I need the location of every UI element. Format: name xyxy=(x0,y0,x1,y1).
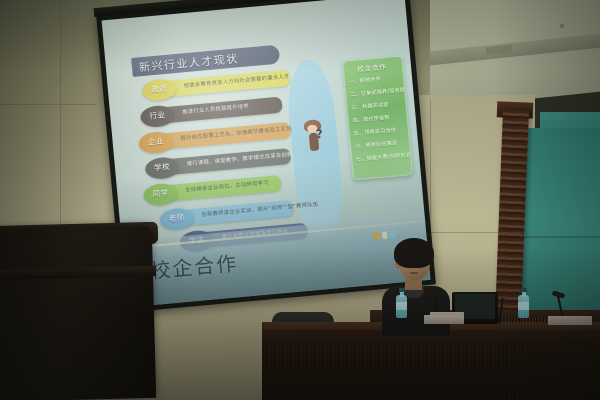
desk-front-panel xyxy=(262,340,600,400)
photo-scene: 新兴行业人才现状 ? 政府把更多教育资源人力向社会需要的重点人才行业推进行业人员… xyxy=(0,0,600,400)
slide-row: 企业提升岗位配置工艺化，加强细节建设及工艺化 xyxy=(138,134,140,155)
slide-row: 同学主动接受企业岗位，主动转岗学习 xyxy=(143,185,145,206)
slide-row: 行业推进行业人员技能提升培养 xyxy=(140,107,142,128)
slide-row: 政府把更多教育资源人力向社会需要的重点人才 xyxy=(141,81,143,102)
question-mark-icon: ? xyxy=(315,127,323,142)
bottle-label xyxy=(396,302,407,310)
slide-row: 学校推行课程、课堂教学、教学模式改革及创新 xyxy=(144,159,146,180)
wall-seam xyxy=(0,104,96,105)
speaker-mouth xyxy=(410,272,418,274)
footer-dot xyxy=(374,232,380,239)
ceiling-fixture xyxy=(560,24,564,28)
water-bottle xyxy=(396,288,407,318)
wall-teal-seam xyxy=(520,236,600,238)
wall-seam xyxy=(60,0,61,230)
papers xyxy=(430,312,464,321)
speaker-hair xyxy=(394,238,434,268)
slide-row: 老师在职教师进企业实训，提升"双师""型"教师队伍 xyxy=(159,210,161,231)
bottle-label xyxy=(518,302,529,310)
thinking-person-mascot-icon: ? xyxy=(302,119,328,161)
water-bottle xyxy=(518,288,529,318)
papers xyxy=(548,316,592,325)
podium-lectern xyxy=(0,226,156,400)
